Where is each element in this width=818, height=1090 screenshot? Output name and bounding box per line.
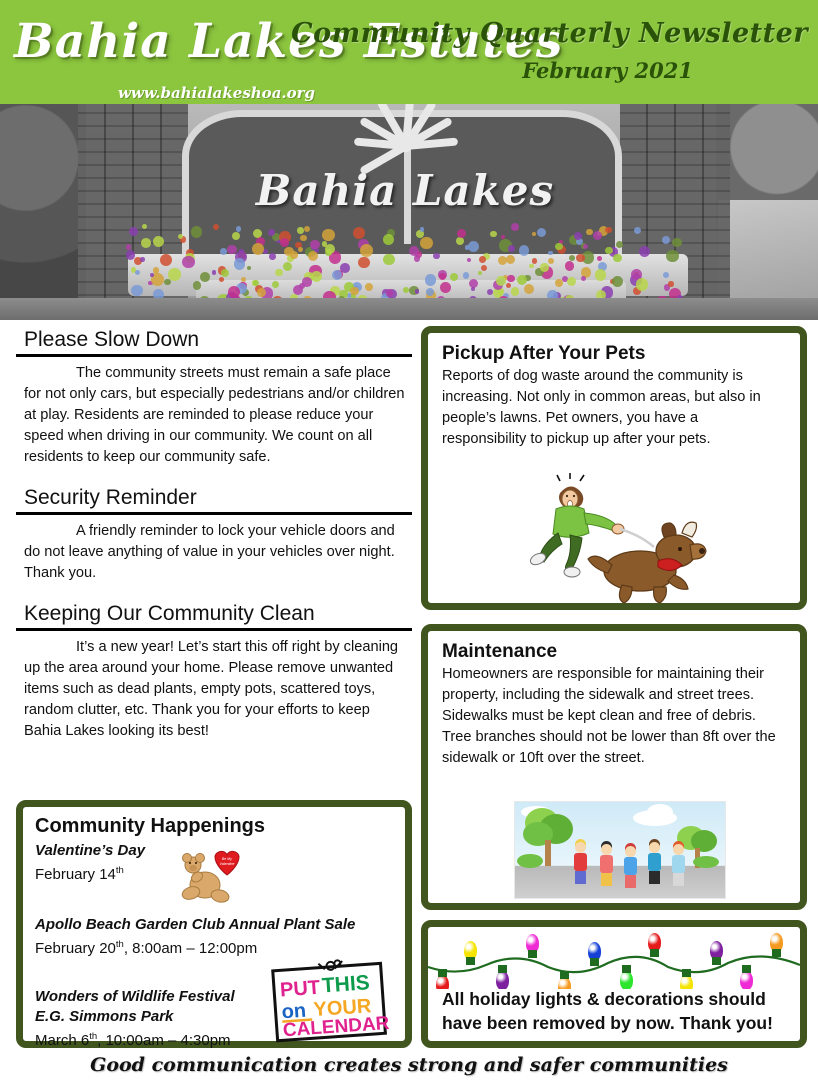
- left-content-column: Please Slow Down The community streets m…: [16, 328, 412, 760]
- ordinal-suffix: th: [116, 939, 124, 950]
- photo-flower: [164, 279, 170, 285]
- maintenance-title: Maintenance: [442, 641, 786, 663]
- photo-flower: [191, 226, 203, 238]
- photo-flower: [612, 276, 623, 287]
- bulb-cap: [622, 965, 631, 973]
- photo-flower: [457, 229, 466, 238]
- photo-flower: [548, 258, 554, 264]
- photo-flower: [269, 253, 276, 260]
- section-body: The community streets must remain a safe…: [16, 363, 412, 468]
- photo-flower: [548, 251, 553, 256]
- svg-text:Valentine: Valentine: [220, 862, 235, 866]
- light-bulb: [526, 934, 539, 953]
- photo-flower: [182, 256, 194, 268]
- photo-flower: [666, 250, 678, 262]
- maintenance-box: Maintenance Homeowners are responsible f…: [421, 624, 807, 910]
- section-heading: Security Reminder: [16, 486, 412, 515]
- pets-title: Pickup After Your Pets: [442, 343, 786, 365]
- bulb-cap: [742, 965, 751, 973]
- photo-tree-left: [0, 104, 86, 320]
- holiday-lights-message: All holiday lights & decorations should …: [442, 987, 798, 1035]
- newsletter-page: Bahia Lakes Estates www.bahialakeshoa.or…: [0, 0, 818, 1090]
- bulb-cap: [466, 957, 475, 965]
- photo-flower: [228, 286, 240, 298]
- photo-flower: [257, 288, 266, 297]
- community-entrance-photo: Bahia Lakes: [0, 104, 818, 320]
- photo-flower: [529, 264, 533, 268]
- photo-flower: [140, 257, 145, 262]
- happenings-title: Community Happenings: [35, 815, 393, 838]
- photo-flower: [555, 243, 562, 250]
- right-content-column: Pickup After Your Pets Reports of dog wa…: [421, 326, 807, 610]
- photo-flower: [511, 287, 519, 295]
- bulb-cap: [590, 958, 599, 966]
- photo-flower: [663, 272, 669, 278]
- photo-flower: [540, 263, 549, 272]
- svg-text:Be My: Be My: [222, 857, 232, 861]
- pets-body: Reports of dog waste around the communit…: [442, 366, 786, 450]
- photo-flower: [213, 224, 219, 230]
- photo-flower: [219, 277, 224, 282]
- children-on-sidewalk-icon: [514, 801, 726, 899]
- photo-flower: [634, 227, 641, 234]
- light-bulb: [588, 942, 601, 961]
- photo-flower: [565, 261, 574, 270]
- photo-flower: [481, 265, 487, 271]
- light-bulb: [770, 933, 783, 952]
- photo-flower: [383, 234, 394, 245]
- photo-flower: [605, 227, 612, 234]
- dog-walking-person-icon: [508, 473, 728, 603]
- section-body: It’s a new year! Let’s start this off ri…: [16, 637, 412, 742]
- bulb-cap: [772, 949, 781, 957]
- bulb-cap: [498, 965, 507, 973]
- photo-flower: [440, 282, 451, 293]
- bulb-cap: [712, 957, 721, 965]
- photo-flower: [519, 245, 529, 255]
- photo-flower: [252, 243, 264, 255]
- ordinal-suffix: th: [89, 1031, 97, 1042]
- ordinal-suffix: th: [116, 865, 124, 876]
- section-please-slow-down: Please Slow Down The community streets m…: [16, 328, 412, 468]
- photo-flower: [506, 255, 515, 264]
- photo-flower: [253, 280, 259, 286]
- section-body: A friendly reminder to lock your vehicle…: [16, 521, 412, 584]
- light-bulb: [648, 933, 661, 952]
- photo-flower: [322, 229, 335, 242]
- photo-flower: [532, 258, 537, 263]
- section-keeping-community-clean: Keeping Our Community Clean It’s a new y…: [16, 602, 412, 742]
- event-name: Apollo Beach Garden Club Annual Plant Sa…: [35, 915, 393, 935]
- photo-flower: [350, 287, 358, 295]
- event-date: February 20th, 8:00am – 12:00pm: [35, 935, 393, 959]
- photo-flower: [297, 227, 303, 233]
- photo-flower: [517, 275, 527, 285]
- bulb-cap: [528, 950, 537, 958]
- photo-flower: [298, 247, 303, 252]
- photo-flower: [131, 285, 142, 296]
- photo-flower: [232, 232, 240, 240]
- holiday-lights-icon: [428, 927, 800, 989]
- photo-flower: [425, 274, 437, 286]
- photo-flower: [501, 235, 505, 239]
- photo-sign-text: Bahia Lakes: [225, 166, 585, 215]
- photo-flower: [668, 281, 673, 286]
- footer-tagline: Good communication creates strong and sa…: [0, 1054, 818, 1076]
- maintenance-body: Homeowners are responsible for maintaini…: [442, 664, 786, 769]
- photo-flower: [636, 278, 649, 291]
- photo-flower: [141, 238, 151, 248]
- photo-flower: [433, 253, 440, 260]
- photo-flower: [383, 254, 394, 265]
- photo-flower: [239, 249, 243, 253]
- bulb-cap: [560, 971, 569, 979]
- photo-flower: [280, 238, 289, 247]
- newsletter-label: Community Quarterly Newsletter: [291, 18, 808, 49]
- pickup-after-pets-box: Pickup After Your Pets Reports of dog wa…: [421, 326, 807, 610]
- photo-ground: [0, 298, 818, 320]
- photo-flower: [662, 236, 670, 244]
- light-bulb: [464, 941, 477, 960]
- photo-flower: [212, 270, 217, 275]
- photo-flower: [302, 277, 311, 286]
- photo-flower: [569, 255, 575, 261]
- bulb-cap: [650, 949, 659, 957]
- bulb-cap: [682, 969, 691, 977]
- photo-flower: [576, 254, 585, 263]
- photo-flower: [414, 255, 420, 261]
- photo-flower: [581, 276, 586, 281]
- photo-flower: [310, 240, 320, 250]
- bulb-cap: [438, 969, 447, 977]
- community-happenings-box: Community Happenings Valentine’s Day Feb…: [16, 800, 412, 1048]
- photo-flower: [467, 258, 471, 262]
- put-this-on-your-calendar-icon: PUT THIS on YOUR CALENDAR!: [268, 955, 392, 1047]
- photo-flower: [360, 244, 373, 257]
- event-item: Apollo Beach Garden Club Annual Plant Sa…: [35, 915, 393, 959]
- section-security-reminder: Security Reminder A friendly reminder to…: [16, 486, 412, 584]
- light-bulb: [710, 941, 723, 960]
- photo-flower: [439, 273, 445, 279]
- photo-flower: [487, 289, 493, 295]
- photo-flower: [456, 237, 464, 245]
- photo-flower: [268, 229, 275, 236]
- teddy-bear-valentine-icon: Be My Valentine: [175, 849, 259, 911]
- photo-flower: [471, 287, 475, 291]
- photo-flower: [358, 257, 369, 268]
- photo-flower: [506, 283, 511, 288]
- photo-flower: [597, 256, 602, 261]
- photo-flower: [234, 258, 245, 269]
- photo-flower: [420, 237, 432, 249]
- svg-text:PUT: PUT: [279, 977, 320, 1002]
- photo-flower: [290, 251, 298, 259]
- photo-flower: [325, 244, 335, 254]
- photo-flower: [593, 231, 602, 240]
- photo-flower: [415, 289, 419, 293]
- photo-flower: [386, 289, 394, 297]
- holiday-lights-box: All holiday lights & decorations should …: [421, 920, 807, 1048]
- photo-flower: [160, 254, 172, 266]
- photo-flower: [300, 235, 306, 241]
- photo-flower: [465, 245, 470, 250]
- svg-text:THIS: THIS: [321, 971, 370, 997]
- newsletter-issue-date: February 2021: [522, 58, 693, 83]
- photo-flower: [463, 272, 470, 279]
- section-heading: Keeping Our Community Clean: [16, 602, 412, 631]
- section-heading: Please Slow Down: [16, 328, 412, 357]
- photo-flower: [129, 227, 138, 236]
- newsletter-header: Bahia Lakes Estates www.bahialakeshoa.or…: [0, 0, 818, 104]
- photo-flower: [605, 247, 613, 255]
- hoa-website-url[interactable]: www.bahialakeshoa.org: [118, 84, 315, 102]
- photo-flower: [153, 267, 159, 273]
- photo-flower: [508, 245, 515, 252]
- photo-flower: [478, 271, 482, 275]
- photo-flower: [595, 269, 606, 280]
- photo-flower: [236, 226, 242, 232]
